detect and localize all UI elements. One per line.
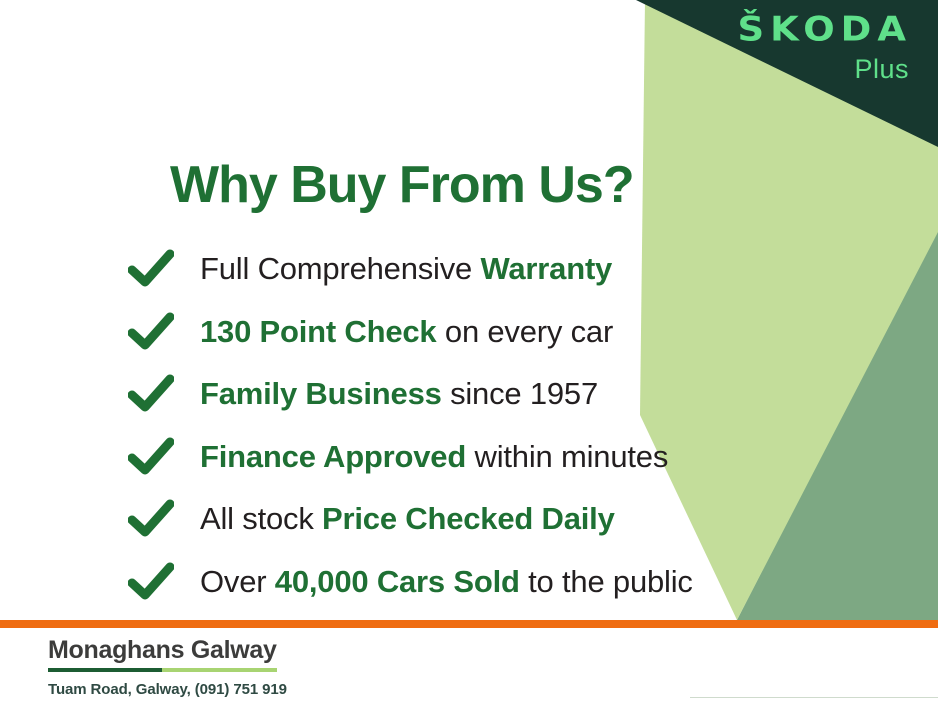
benefit-text: Over 40,000 Cars Sold to the public	[200, 564, 693, 600]
benefit-highlight: Warranty	[480, 251, 612, 286]
check-icon	[128, 499, 174, 539]
check-icon	[128, 312, 174, 352]
benefit-plain: All stock	[200, 501, 322, 536]
benefit-text: Finance Approved within minutes	[200, 439, 668, 475]
benefit-text: 130 Point Check on every car	[200, 314, 613, 350]
benefit-plain: within minutes	[466, 439, 668, 474]
benefits-list: Full Comprehensive Warranty130 Point Che…	[128, 238, 693, 613]
benefit-text: Family Business since 1957	[200, 376, 598, 412]
check-icon	[128, 562, 174, 602]
dealer-name-underline	[48, 668, 277, 672]
benefit-item: Over 40,000 Cars Sold to the public	[128, 551, 693, 614]
benefit-highlight: Price Checked Daily	[322, 501, 615, 536]
benefit-item: 130 Point Check on every car	[128, 301, 693, 364]
benefit-plain: Over	[200, 564, 275, 599]
benefit-item: Full Comprehensive Warranty	[128, 238, 693, 301]
skoda-plus-logo: ŠKODA Plus	[738, 12, 912, 83]
benefit-text: Full Comprehensive Warranty	[200, 251, 612, 287]
benefit-plain: Full Comprehensive	[200, 251, 480, 286]
plus-label: Plus	[738, 56, 909, 83]
benefit-item: Finance Approved within minutes	[128, 426, 693, 489]
benefit-item: All stock Price Checked Daily	[128, 488, 693, 551]
dealer-name-text: Monaghans Galway	[48, 636, 277, 664]
dealer-footer: Monaghans Galway Tuam Road, Galway, (091…	[48, 636, 287, 698]
check-icon	[128, 374, 174, 414]
benefit-item: Family Business since 1957	[128, 363, 693, 426]
page-title: Why Buy From Us?	[170, 155, 634, 215]
benefit-text: All stock Price Checked Daily	[200, 501, 615, 537]
promotional-poster: ŠKODA Plus Why Buy From Us? Full Compreh…	[0, 0, 938, 704]
benefit-plain: on every car	[436, 314, 613, 349]
underline-segment-dark	[48, 668, 162, 672]
check-icon	[128, 249, 174, 289]
skoda-wordmark: ŠKODA	[738, 12, 912, 46]
check-icon	[128, 437, 174, 477]
bottom-rule	[690, 697, 938, 698]
sage-green-triangle	[737, 228, 938, 620]
benefit-plain: to the public	[520, 564, 693, 599]
benefit-highlight: Finance Approved	[200, 439, 466, 474]
orange-divider	[0, 620, 938, 628]
dealer-address: Tuam Road, Galway, (091) 751 919	[48, 681, 287, 698]
benefit-highlight: 40,000 Cars Sold	[275, 564, 520, 599]
dealer-name: Monaghans Galway	[48, 636, 277, 672]
underline-segment-light	[162, 668, 276, 672]
benefit-highlight: Family Business	[200, 376, 442, 411]
benefit-highlight: 130 Point Check	[200, 314, 436, 349]
benefit-plain: since 1957	[442, 376, 598, 411]
